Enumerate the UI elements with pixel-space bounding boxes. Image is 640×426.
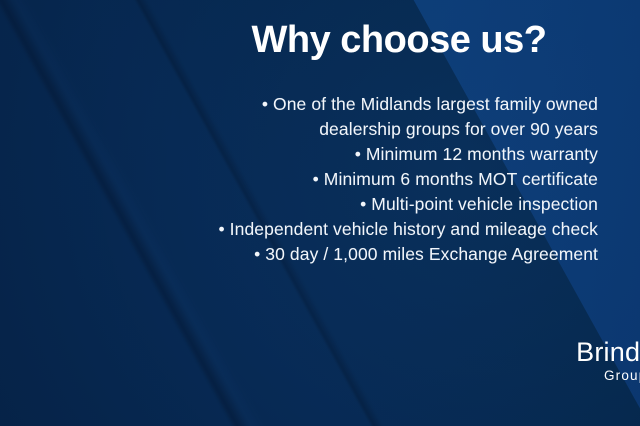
benefits-list: • One of the Midlands largest family own…	[200, 92, 598, 267]
banner-content: Why choose us? • One of the Midlands lar…	[200, 0, 598, 426]
list-item: • Minimum 6 months MOT certificate	[200, 167, 598, 192]
brindley-subtitle: Group	[560, 367, 640, 385]
brindley-group-logo: Brindley Group	[560, 337, 640, 385]
list-item: • Independent vehicle history and mileag…	[200, 217, 598, 242]
list-item: • 30 day / 1,000 miles Exchange Agreemen…	[200, 242, 598, 267]
page-title: Why choose us?	[200, 21, 598, 61]
list-item: • Multi-point vehicle inspection	[200, 192, 598, 217]
brindley-wordmark: Brindley	[560, 337, 640, 367]
list-item: • One of the Midlands largest family own…	[200, 92, 598, 142]
promo-banner: Why choose us? • One of the Midlands lar…	[0, 0, 640, 426]
logo-row: Brindley Group HYUNDAI	[560, 328, 640, 394]
list-item: • Minimum 12 months warranty	[200, 142, 598, 167]
